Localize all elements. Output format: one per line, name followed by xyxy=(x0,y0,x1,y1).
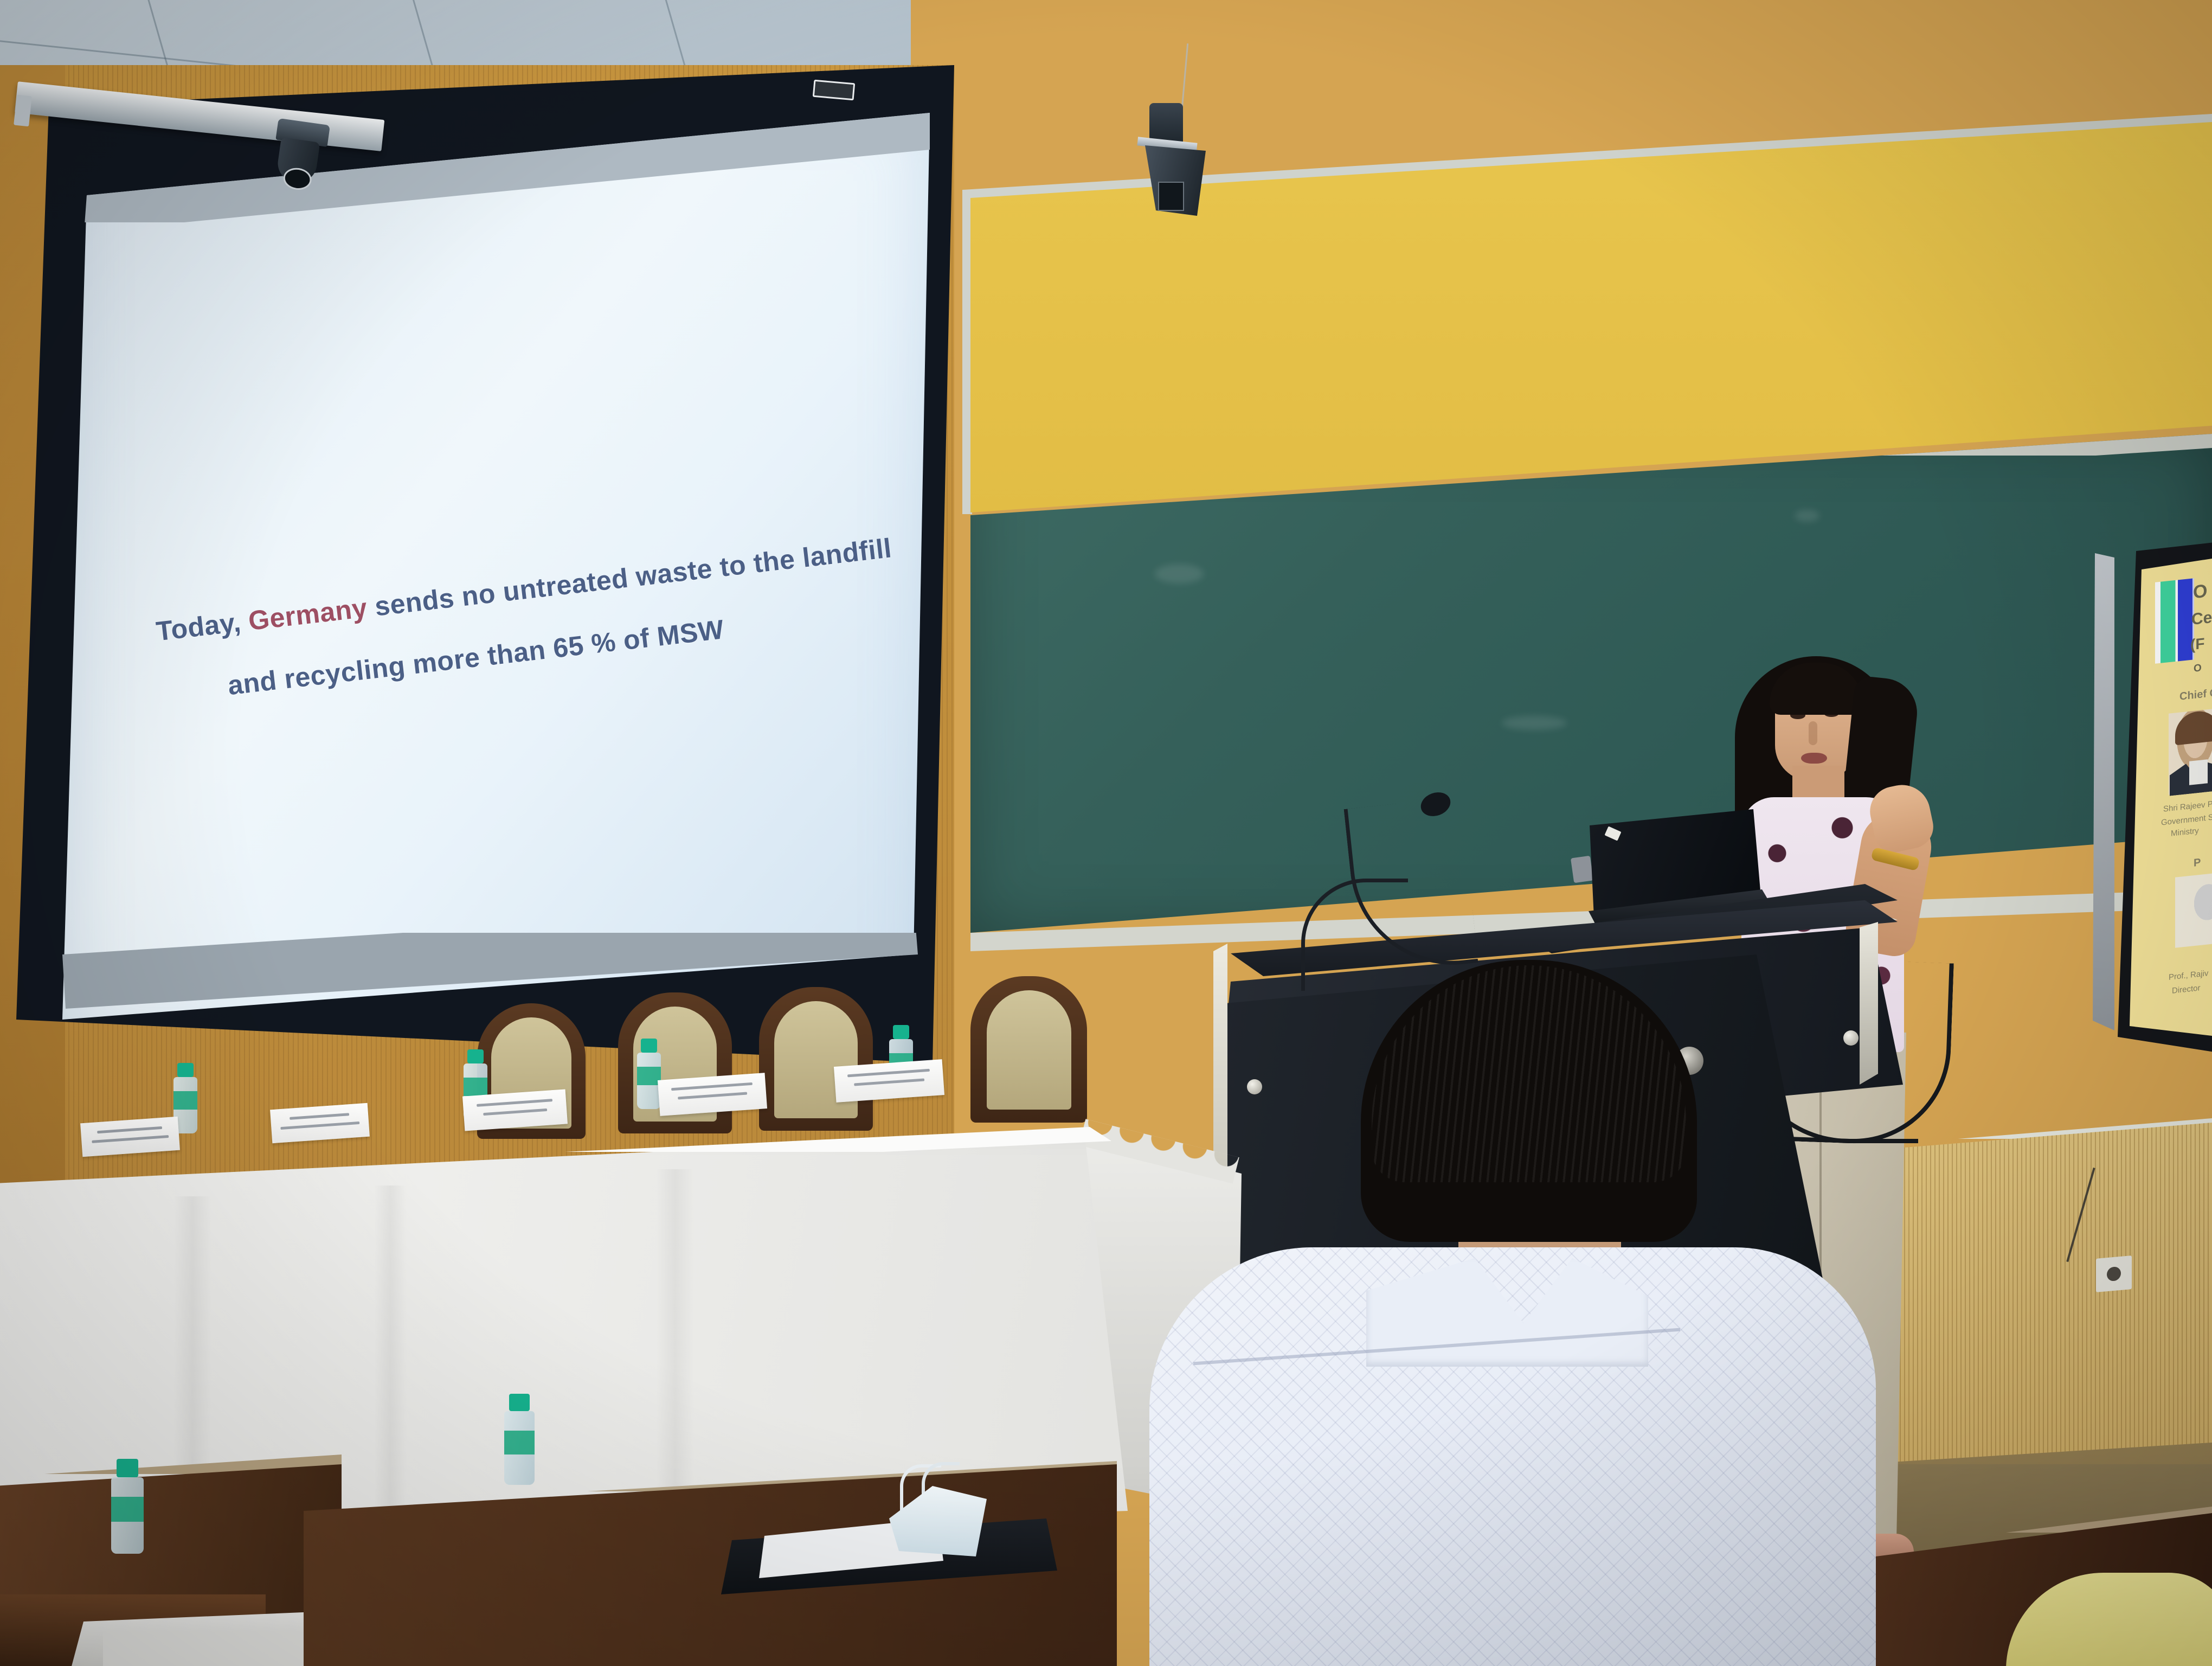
presenter-nose xyxy=(1809,721,1817,745)
chair xyxy=(970,976,1087,1123)
name-card xyxy=(270,1103,370,1143)
poster-portrait-1-shirt xyxy=(2189,759,2208,785)
water-bottle xyxy=(504,1394,535,1485)
poster-flag-graphic xyxy=(2155,578,2194,664)
speaker-grill-icon xyxy=(1158,182,1184,211)
water-bottle xyxy=(111,1459,144,1554)
name-card xyxy=(834,1059,944,1103)
poster-presided-label: P xyxy=(2194,856,2201,869)
podium-right-edge-trim xyxy=(1860,922,1878,1085)
poster-portrait-photo-2 xyxy=(2175,871,2212,948)
podium-screw-far-left xyxy=(1247,1079,1262,1094)
poster-heading-1: O xyxy=(2193,581,2207,604)
screen-housing-endcap xyxy=(14,95,32,127)
water-bottle xyxy=(637,1039,661,1109)
laptop-hinge xyxy=(1571,856,1593,883)
poster-heading-4: O xyxy=(2194,662,2202,675)
name-card xyxy=(80,1117,180,1157)
lecture-hall-photo: Today, Germany sends no untreated waste … xyxy=(0,0,2212,1666)
name-card xyxy=(658,1073,767,1116)
chair xyxy=(759,987,873,1131)
screen-housing-label xyxy=(813,80,855,101)
presenter-mouth xyxy=(1801,753,1827,764)
name-card xyxy=(462,1089,568,1131)
poster-heading-3: (F xyxy=(2190,635,2204,654)
poster-heading-2: Ce xyxy=(2191,608,2212,629)
wall-speaker xyxy=(1128,103,1225,233)
cctv-camera xyxy=(269,118,338,191)
podium-screw-right xyxy=(1843,1030,1859,1046)
